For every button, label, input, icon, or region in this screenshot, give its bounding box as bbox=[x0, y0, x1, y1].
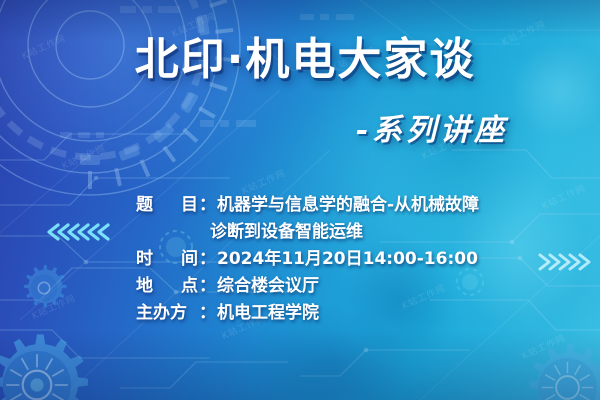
info-value-topic-continued: 诊断到设备智能运维 bbox=[210, 219, 556, 246]
poster-content: 北印·机电大家谈 -系列讲座 题 目 ： 机器学与信息学的融合-从机械故障 诊断… bbox=[0, 0, 600, 400]
info-label-char: 间 bbox=[181, 246, 198, 273]
info-row: 时 间 ： 2024年11月20日14:00-16:00 bbox=[136, 246, 556, 273]
poster-main-title: 北印·机电大家谈 bbox=[0, 38, 600, 82]
info-label: 题 目 bbox=[136, 192, 198, 219]
info-label: 地 点 bbox=[136, 273, 198, 300]
poster-banner: K站工作网 K站工作网 K站工作网 K站工作网 K站工作网 K站工作网 K站工作… bbox=[0, 0, 600, 400]
info-row: 题 目 ： 机器学与信息学的融合-从机械故障 bbox=[136, 192, 556, 219]
info-colon: ： bbox=[198, 273, 217, 300]
info-colon: ： bbox=[198, 192, 217, 219]
info-row: 地 点 ： 综合楼会议厅 bbox=[136, 273, 556, 300]
info-value-venue: 综合楼会议厅 bbox=[217, 273, 556, 300]
info-label-char: 题 bbox=[136, 192, 153, 219]
info-row: 主办方 ： 机电工程学院 bbox=[136, 300, 556, 327]
info-label-char: 时 bbox=[136, 246, 153, 273]
info-colon: ： bbox=[198, 246, 217, 273]
info-label-char: 目 bbox=[181, 192, 198, 219]
info-label-char: 主办方 bbox=[136, 300, 187, 327]
poster-sub-title: -系列讲座 bbox=[356, 116, 508, 146]
info-value-organizer: 机电工程学院 bbox=[217, 300, 556, 327]
info-label-char: 地 bbox=[136, 273, 153, 300]
info-label: 时 间 bbox=[136, 246, 198, 273]
info-value-topic: 机器学与信息学的融合-从机械故障 bbox=[217, 192, 556, 219]
poster-info-block: 题 目 ： 机器学与信息学的融合-从机械故障 诊断到设备智能运维 时 间 ： 2… bbox=[136, 192, 556, 327]
info-label-char: 点 bbox=[181, 273, 198, 300]
info-label: 主办方 bbox=[136, 300, 198, 327]
info-value-datetime: 2024年11月20日14:00-16:00 bbox=[217, 246, 556, 273]
info-colon: ： bbox=[198, 300, 217, 327]
